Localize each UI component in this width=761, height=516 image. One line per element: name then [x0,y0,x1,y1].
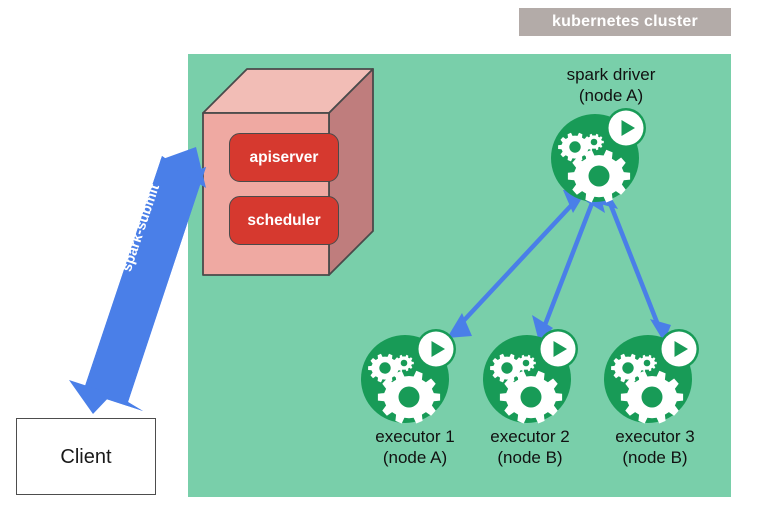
driver-executor-connections [447,186,671,342]
control-plane-components: apiserver scheduler [203,62,373,277]
connection-driver-executor-3 [597,186,671,342]
executor-3-node[interactable] [604,329,699,424]
diagram-canvas: kubernetes cluster [0,0,761,516]
apiserver-label: apiserver [250,150,319,166]
spark-driver-node[interactable] [551,108,646,203]
executor-3-label: executor 3 (node B) [580,426,730,469]
scheduler-component[interactable]: scheduler [229,196,339,245]
spark-submit-arrow [69,156,206,411]
apiserver-component[interactable]: apiserver [229,133,339,182]
client-box[interactable]: Client [16,418,156,495]
scheduler-label: scheduler [247,213,320,229]
executor-2-node[interactable] [483,329,578,424]
client-label: Client [60,447,111,467]
spark-driver-label: spark driver (node A) [516,64,706,107]
executor-1-node[interactable] [361,329,456,424]
